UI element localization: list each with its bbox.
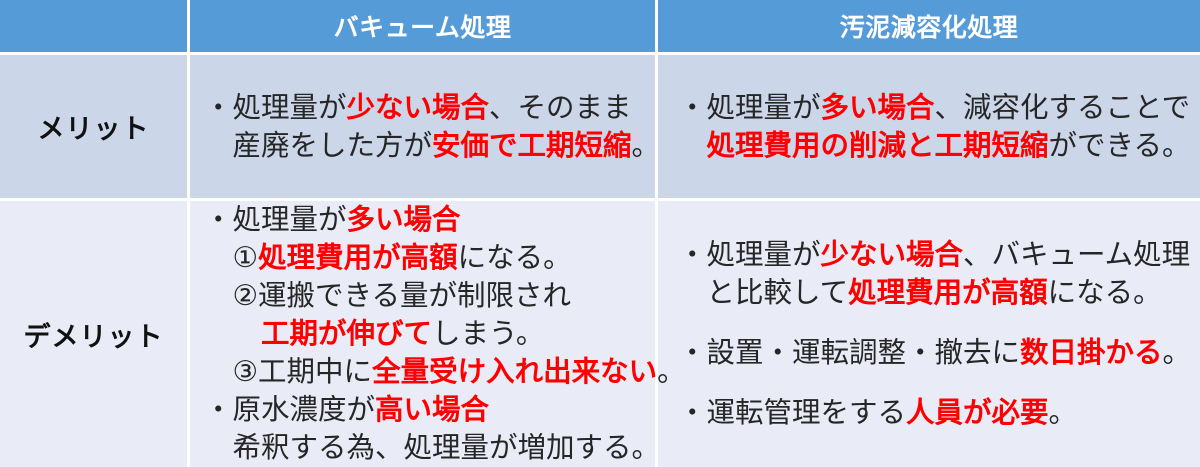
emphasis-text: 処理費用が高額	[848, 276, 1048, 309]
plain-text: しまう。	[432, 317, 544, 350]
text-line: 産廃をした方が安価で工期短縮。	[204, 127, 655, 165]
emphasis-text: 数日掛かる	[1020, 336, 1163, 369]
emphasis-text: 多い場合	[347, 203, 461, 236]
plain-text: 、そのまま	[489, 91, 632, 124]
plain-text: 、バキューム処理	[963, 238, 1190, 271]
plain-text: ・処理量が	[204, 203, 347, 236]
emphasis-text: 工期が伸びて	[261, 317, 432, 350]
plain-text: 。	[1049, 396, 1078, 429]
text-line: ・原水濃度が高い場合	[204, 391, 655, 429]
plain-text: になる。	[458, 241, 572, 274]
emphasis-text: 処理費用が高額	[258, 241, 458, 274]
plain-text: ②運搬できる量が制限され	[204, 279, 571, 312]
plain-text: 希釈する為、処理量が増加する。	[204, 431, 660, 464]
plain-text	[204, 317, 261, 350]
text-line: ・運転管理をする人員が必要。	[678, 394, 1200, 432]
row-label-demerit: デメリット	[0, 201, 190, 467]
text-line: と比較して処理費用が高額になる。	[678, 274, 1200, 312]
cell-demerit-sludge: ・処理量が少ない場合、バキューム処理 と比較して処理費用が高額になる。・設置・運…	[658, 201, 1200, 467]
emphasis-text: 安価で工期短縮	[432, 129, 632, 162]
plain-text: ・設置・運転調整・撤去に	[678, 336, 1020, 369]
text-line: ②運搬できる量が制限され	[204, 277, 655, 315]
table-row-demerit: デメリット ・処理量が多い場合 ①処理費用が高額になる。 ②運搬できる量が制限さ…	[0, 201, 1200, 467]
header-corner-cell	[0, 0, 190, 55]
text-line: 処理費用の削減と工期短縮ができる。	[678, 127, 1200, 165]
plain-text: 。	[1163, 336, 1192, 369]
plain-text: ①	[204, 241, 258, 274]
emphasis-text: 少ない場合	[347, 91, 490, 124]
demerit-sludge-text: ・処理量が少ない場合、バキューム処理 と比較して処理費用が高額になる。・設置・運…	[658, 236, 1200, 432]
plain-text	[678, 129, 707, 162]
header-vacuum-treatment: バキューム処理	[190, 0, 658, 55]
plain-text: ・処理量が	[204, 91, 347, 124]
emphasis-text: 少ない場合	[821, 238, 964, 271]
plain-text: ・処理量が	[678, 91, 821, 124]
plain-text: ・運転管理をする	[678, 396, 906, 429]
cell-merit-sludge: ・処理量が多い場合、減容化することで 処理費用の削減と工期短縮ができる。	[658, 55, 1200, 201]
emphasis-text: 人員が必要	[906, 396, 1049, 429]
emphasis-text: 処理費用の削減と工期短縮	[707, 129, 1049, 162]
demerit-vacuum-text: ・処理量が多い場合 ①処理費用が高額になる。 ②運搬できる量が制限され 工期が伸…	[190, 201, 655, 467]
emphasis-text: 多い場合	[821, 91, 935, 124]
header-sludge-reduction-treatment: 汚泥減容化処理	[658, 0, 1200, 55]
plain-text: 産廃をした方が	[204, 129, 432, 162]
plain-text: になる。	[1048, 276, 1162, 309]
emphasis-text: 全量受け入れ出来ない	[372, 355, 657, 388]
text-line: 工期が伸びてしまう。	[204, 315, 655, 353]
comparison-table: バキューム処理 汚泥減容化処理 メリット ・処理量が少ない場合、そのまま 産廃を…	[0, 0, 1200, 467]
paragraph-gap	[678, 372, 1200, 394]
emphasis-text: 高い場合	[375, 393, 489, 426]
plain-text: 、減容化することで	[935, 91, 1191, 124]
row-label-merit: メリット	[0, 55, 190, 201]
table-header-row: バキューム処理 汚泥減容化処理	[0, 0, 1200, 55]
text-line: ・処理量が少ない場合、バキューム処理	[678, 236, 1200, 274]
text-line: ・処理量が多い場合	[204, 201, 655, 239]
plain-text: ③工期中に	[204, 355, 372, 388]
merit-sludge-text: ・処理量が多い場合、減容化することで 処理費用の削減と工期短縮ができる。	[658, 89, 1200, 165]
cell-merit-vacuum: ・処理量が少ない場合、そのまま 産廃をした方が安価で工期短縮。	[190, 55, 658, 201]
text-line: ・処理量が多い場合、減容化することで	[678, 89, 1200, 127]
text-line: ・処理量が少ない場合、そのまま	[204, 89, 655, 127]
plain-text: ・処理量が	[678, 238, 821, 271]
paragraph-gap	[678, 312, 1200, 334]
plain-text: 。	[632, 129, 661, 162]
plain-text: ができる。	[1049, 129, 1191, 162]
text-line: ①処理費用が高額になる。	[204, 239, 655, 277]
cell-demerit-vacuum: ・処理量が多い場合 ①処理費用が高額になる。 ②運搬できる量が制限され 工期が伸…	[190, 201, 658, 467]
table-row-merit: メリット ・処理量が少ない場合、そのまま 産廃をした方が安価で工期短縮。 ・処理…	[0, 55, 1200, 201]
plain-text: と比較して	[678, 276, 848, 309]
text-line: ・設置・運転調整・撤去に数日掛かる。	[678, 334, 1200, 372]
text-line: ③工期中に全量受け入れ出来ない。	[204, 353, 655, 391]
merit-vacuum-text: ・処理量が少ない場合、そのまま 産廃をした方が安価で工期短縮。	[190, 89, 655, 165]
text-line: 希釈する為、処理量が増加する。	[204, 429, 655, 467]
plain-text: ・原水濃度が	[204, 393, 375, 426]
